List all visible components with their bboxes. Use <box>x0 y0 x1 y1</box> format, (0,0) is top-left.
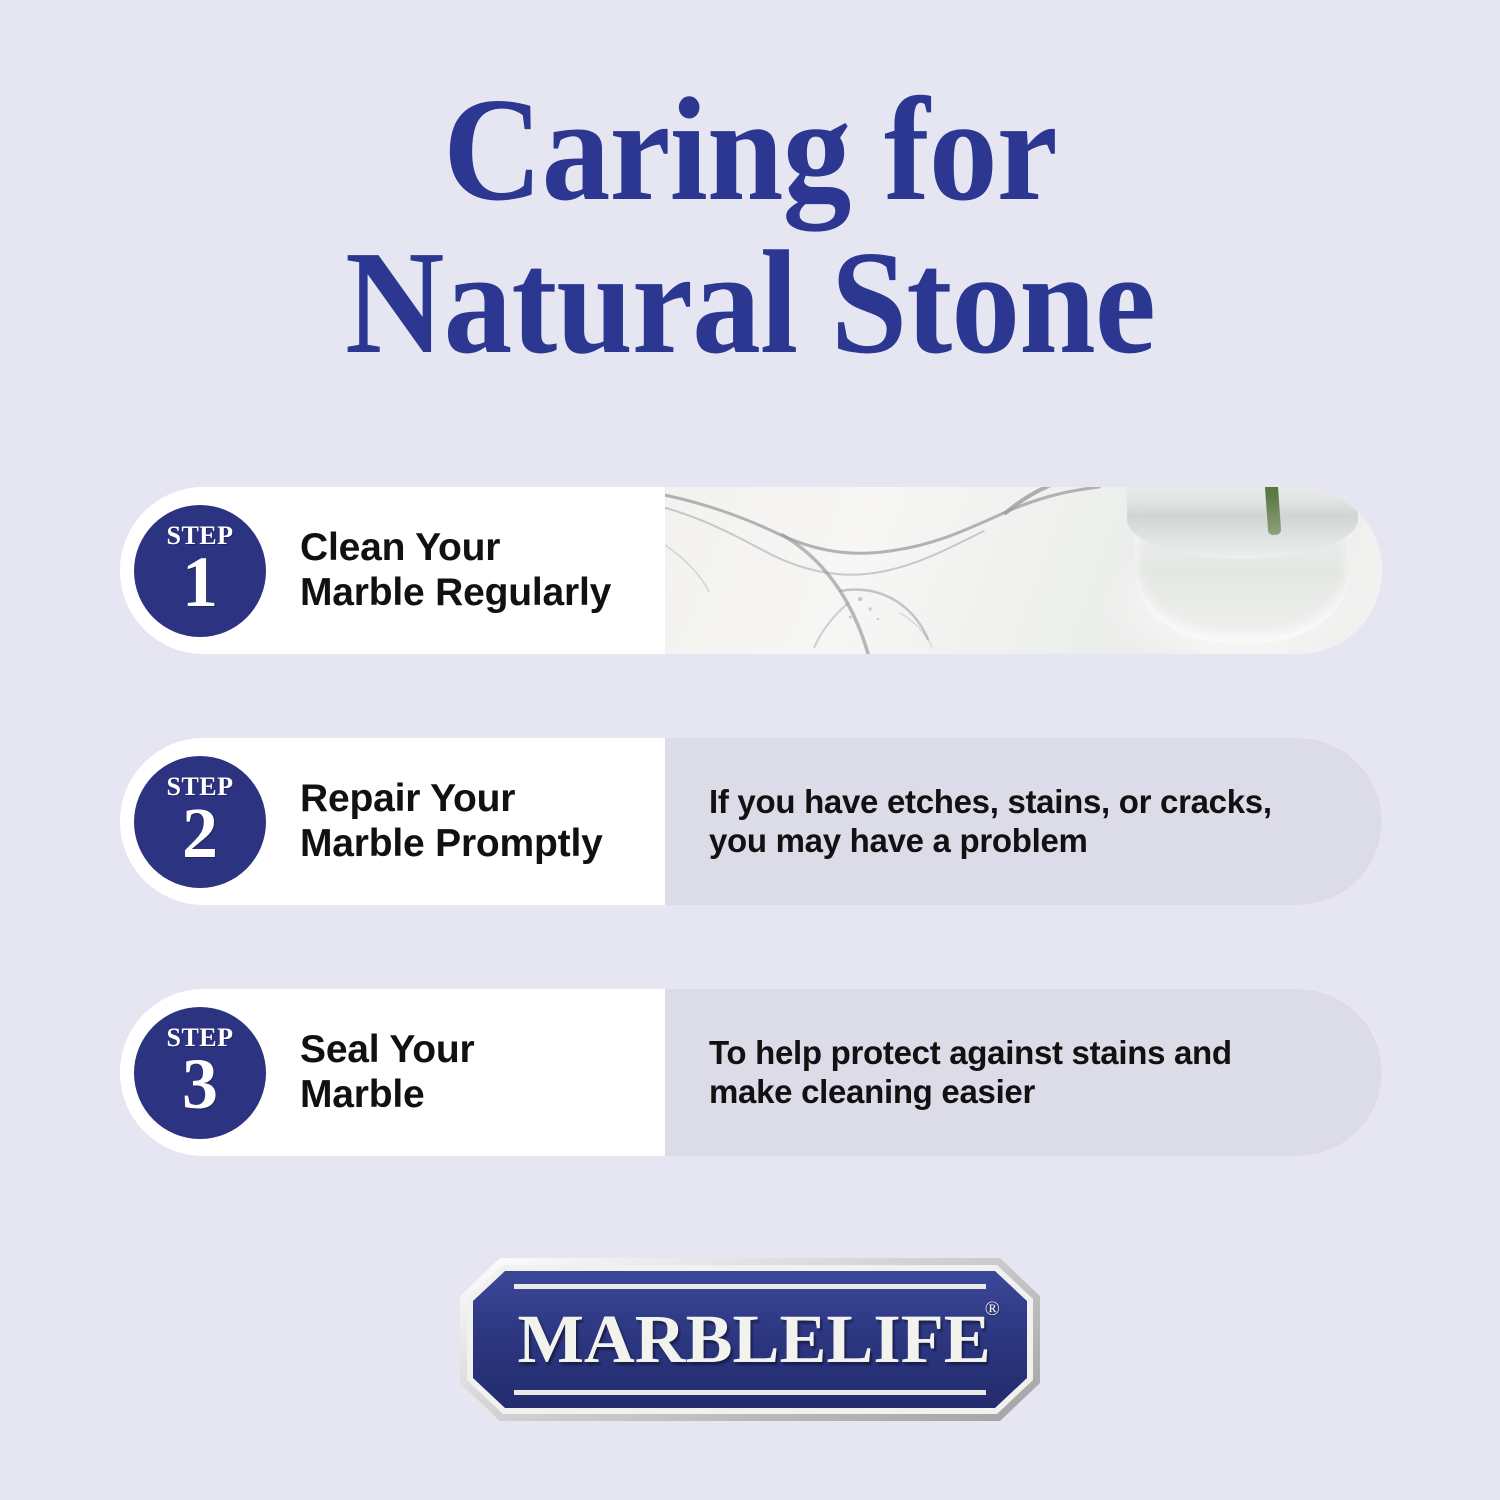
marblelife-logo-plaque: MARBLELIFE ® <box>460 1258 1040 1421</box>
step-3-title: Seal Your Marble <box>300 1028 475 1117</box>
step-1-right <box>665 487 1382 654</box>
step-card-1[interactable]: STEP 1 Clean Your Marble Regularly <box>120 487 1382 654</box>
title-line-2: Natural Stone <box>53 231 1448 376</box>
steps-list: STEP 1 Clean Your Marble Regularly <box>120 487 1382 1156</box>
step-3-badge: STEP 3 <box>134 1007 266 1139</box>
step-2-badge: STEP 2 <box>134 756 266 888</box>
step-3-badge-number: 3 <box>182 1048 218 1120</box>
step-1-badge: STEP 1 <box>134 505 266 637</box>
brand-logo[interactable]: MARBLELIFE ® <box>0 1258 1500 1421</box>
marble-countertop-photo <box>665 487 1382 654</box>
step-card-2[interactable]: STEP 2 Repair Your Marble Promptly If yo… <box>120 738 1382 905</box>
title-line-1: Caring for <box>53 78 1448 223</box>
step-card-3[interactable]: STEP 3 Seal Your Marble To help protect … <box>120 989 1382 1156</box>
step-3-right: To help protect against stains and make … <box>665 989 1382 1156</box>
step-1-badge-number: 1 <box>182 546 218 618</box>
step-2-title: Repair Your Marble Promptly <box>300 777 603 866</box>
step-2-description: If you have etches, stains, or cracks, y… <box>709 783 1272 861</box>
registered-trademark-icon: ® <box>985 1298 1000 1321</box>
step-1-left: STEP 1 Clean Your Marble Regularly <box>120 487 665 654</box>
step-2-left: STEP 2 Repair Your Marble Promptly <box>120 738 665 905</box>
step-3-left: STEP 3 Seal Your Marble <box>120 989 665 1156</box>
page-title: Caring for Natural Stone <box>0 78 1500 376</box>
step-3-description: To help protect against stains and make … <box>709 1034 1232 1112</box>
step-2-right: If you have etches, stains, or cracks, y… <box>665 738 1382 905</box>
step-1-title: Clean Your Marble Regularly <box>300 526 611 615</box>
step-2-badge-number: 2 <box>182 797 218 869</box>
logo-wordmark: MARBLELIFE <box>454 1258 1046 1421</box>
